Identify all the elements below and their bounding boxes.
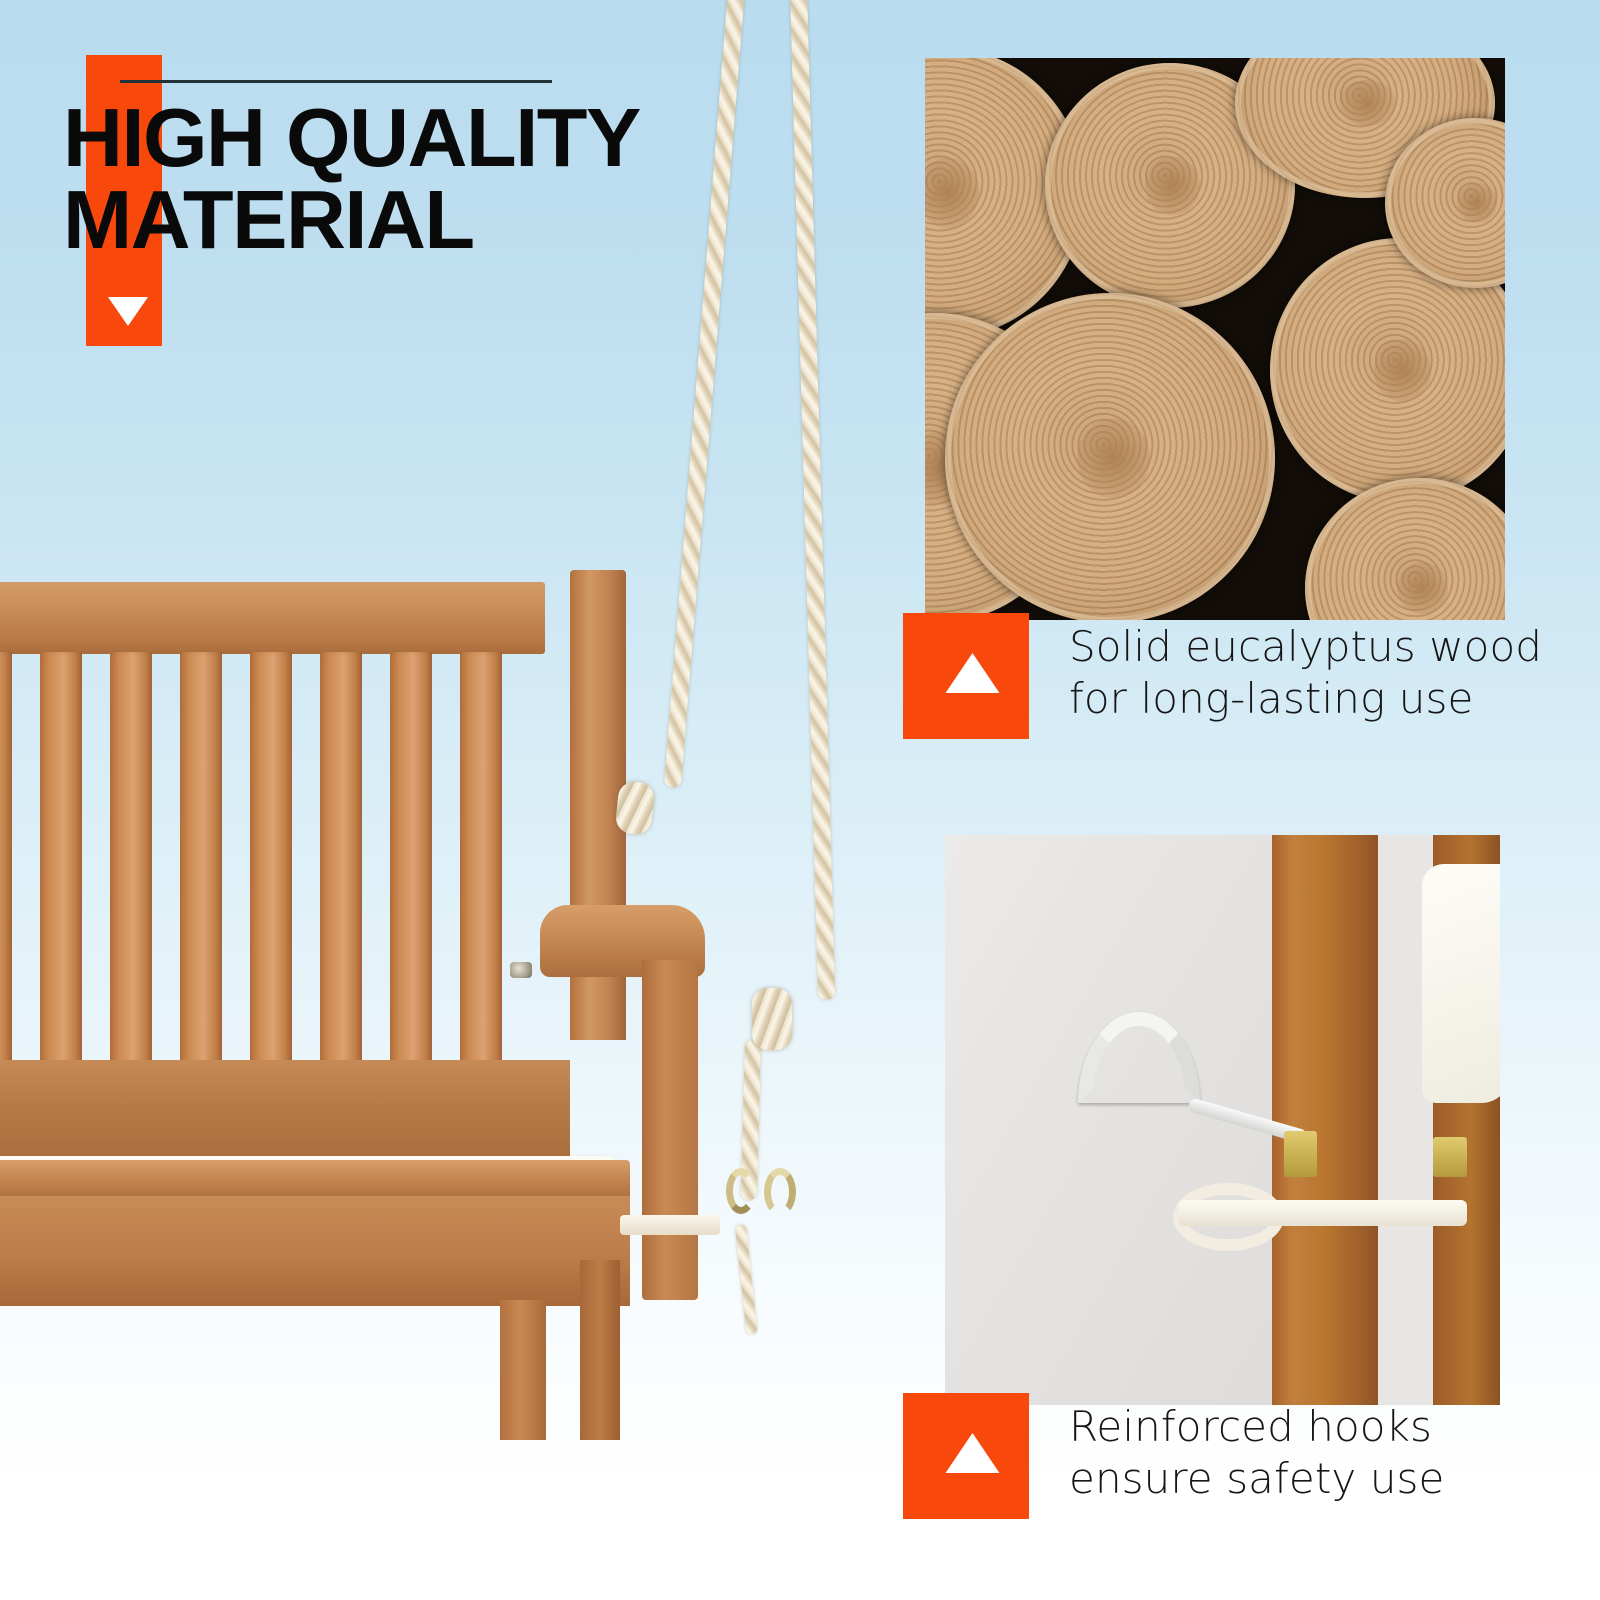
cushion-corner	[1422, 864, 1500, 1103]
backrest-slat	[40, 652, 82, 1064]
backrest-slat	[180, 652, 222, 1064]
backrest-slat	[250, 652, 292, 1064]
seat-back-panel	[0, 1060, 570, 1168]
armrest-bolt	[510, 962, 532, 978]
backrest-top-rail	[0, 582, 545, 654]
feature-image-eucalyptus-logs	[925, 58, 1505, 620]
backrest-slat	[460, 652, 502, 1064]
down-triangle-icon	[108, 297, 148, 326]
seat-apron	[0, 1196, 630, 1306]
feature-image-reinforced-hook	[945, 835, 1500, 1405]
backrest-slat	[110, 652, 152, 1064]
up-triangle-icon	[903, 1393, 1029, 1519]
feature-caption-eucalyptus: Solid eucalyptus wood for long-lasting u…	[903, 613, 1542, 739]
wooden-post	[1272, 835, 1377, 1405]
feature-caption-hooks: Reinforced hooks ensure safety use	[903, 1393, 1444, 1519]
front-leg	[500, 1300, 546, 1440]
brass-nut	[1284, 1131, 1317, 1177]
backrest-slat	[390, 652, 432, 1064]
fabric-strap	[1178, 1200, 1467, 1226]
rear-leg	[580, 1260, 620, 1440]
metal-hook-right	[764, 1168, 796, 1216]
page-title-line1: HIGH QUALITY	[63, 91, 640, 184]
rope-knot-right	[752, 988, 792, 1050]
up-triangle-icon	[903, 613, 1029, 739]
backrest-slat	[320, 652, 362, 1064]
metal-hook-left	[726, 1168, 756, 1214]
seat-front-rail	[0, 1160, 630, 1200]
heading-rule	[120, 80, 552, 83]
backrest-slat	[0, 652, 12, 1064]
brass-nut-secondary	[1433, 1137, 1466, 1177]
product-photo-swing-bench	[0, 560, 770, 1490]
feature-caption-text: Reinforced hooks ensure safety use	[1069, 1401, 1444, 1505]
infographic-canvas: HIGH QUALITY MATERIAL Solid eucalyptus w…	[0, 0, 1600, 1600]
log-cross-section	[1305, 478, 1505, 620]
page-title-line2: MATERIAL	[63, 179, 763, 261]
log-cross-section	[945, 293, 1275, 620]
page-title: HIGH QUALITY MATERIAL	[63, 97, 763, 261]
feature-caption-text: Solid eucalyptus wood for long-lasting u…	[1069, 621, 1542, 725]
cushion-tie-strap	[620, 1215, 720, 1235]
armrest-support-post	[642, 960, 698, 1300]
